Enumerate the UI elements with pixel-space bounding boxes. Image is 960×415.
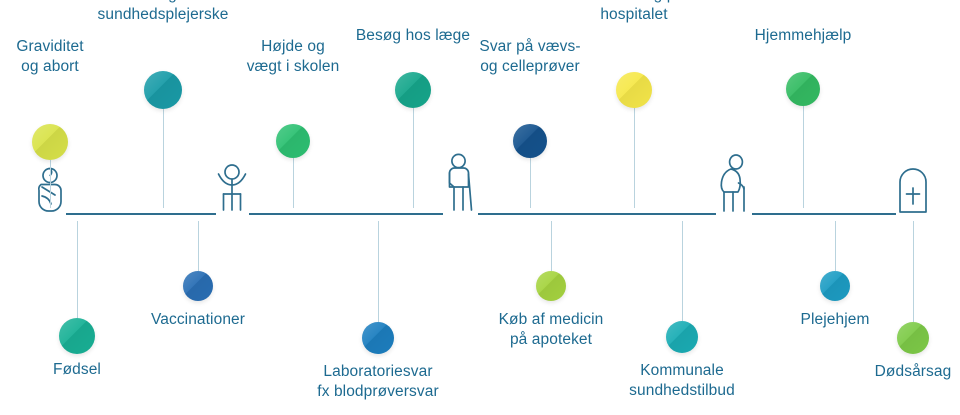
marker-label-doedsaarsag: Dødsårsag: [875, 362, 952, 382]
marker-stem-koeb-af-medicin-paa-apoteket: [551, 221, 552, 271]
marker-stem-plejehjem: [835, 221, 836, 271]
marker-dot-laboratoriesvar[interactable]: [362, 322, 394, 354]
marker-stem-doedsaarsag: [913, 221, 914, 322]
marker-dot-graviditet-og-abort[interactable]: [32, 124, 68, 160]
marker-stem-hoejde-og-vaegt-i-skolen: [293, 158, 294, 208]
marker-dot-doedsaarsag[interactable]: [897, 322, 929, 354]
marker-dot-foedsel[interactable]: [59, 318, 95, 354]
marker-stem-besoeg-af-sundhedsplejerske: [163, 109, 164, 208]
marker-dot-behandling-paa-hospitalet[interactable]: [616, 72, 652, 108]
marker-label-besoeg-hos-laege: Besøg hos læge: [356, 26, 470, 46]
segment-elderly-to-death: [752, 213, 896, 215]
marker-dot-kommunale-sundhedstilbud[interactable]: [666, 321, 698, 353]
segment-adult-to-elderly: [478, 213, 716, 215]
marker-label-hjemmehjaelp: Hjemmehjælp: [755, 26, 852, 46]
marker-label-foedsel: Fødsel: [53, 360, 101, 380]
marker-dot-hjemmehjaelp[interactable]: [786, 72, 820, 106]
marker-dot-hoejde-og-vaegt-i-skolen[interactable]: [276, 124, 310, 158]
segment-birth-to-child: [66, 213, 216, 215]
marker-label-vaccinationer: Vaccinationer: [151, 310, 245, 330]
marker-stem-foedsel: [77, 221, 78, 318]
child-icon: [209, 163, 255, 215]
marker-label-graviditet-og-abort: Graviditet og abort: [16, 37, 83, 78]
marker-stem-graviditet-og-abort: [50, 160, 51, 208]
marker-label-laboratoriesvar: Laboratoriesvar fx blodprøversvar: [317, 362, 438, 403]
marker-label-plejehjem: Plejehjem: [801, 310, 870, 330]
healthcare-lifecycle-timeline: Graviditet og abortBesøg af sundhedsplej…: [0, 0, 960, 415]
marker-label-besoeg-af-sundhedsplejerske: Besøg af sundhedsplejerske: [98, 0, 229, 26]
marker-label-svar-paa-vaevs-og-celleproever: Svar på vævs- og celleprøver: [479, 37, 580, 78]
marker-stem-kommunale-sundhedstilbud: [682, 221, 683, 321]
marker-stem-laboratoriesvar: [378, 221, 379, 322]
marker-label-koeb-af-medicin-paa-apoteket: Køb af medicin på apoteket: [499, 310, 604, 351]
elderly-icon: [714, 153, 752, 215]
adult-icon: [443, 153, 477, 215]
marker-dot-koeb-af-medicin-paa-apoteket[interactable]: [536, 271, 566, 301]
gravestone-icon: [895, 163, 931, 215]
marker-stem-hjemmehjaelp: [803, 106, 804, 208]
marker-dot-svar-paa-vaevs-og-celleproever[interactable]: [513, 124, 547, 158]
marker-stem-svar-paa-vaevs-og-celleproever: [530, 158, 531, 208]
marker-label-kommunale-sundhedstilbud: Kommunale sundhedstilbud: [629, 361, 735, 402]
marker-dot-vaccinationer[interactable]: [183, 271, 213, 301]
marker-stem-behandling-paa-hospitalet: [634, 108, 635, 208]
marker-label-behandling-paa-hospitalet: Behandling på hospitalet: [584, 0, 684, 26]
marker-stem-besoeg-hos-laege: [413, 108, 414, 208]
marker-dot-besoeg-af-sundhedsplejerske[interactable]: [144, 71, 182, 109]
segment-child-to-adult: [249, 213, 443, 215]
marker-label-hoejde-og-vaegt-i-skolen: Højde og vægt i skolen: [247, 37, 340, 78]
marker-dot-besoeg-hos-laege[interactable]: [395, 72, 431, 108]
marker-stem-vaccinationer: [198, 221, 199, 271]
marker-dot-plejehjem[interactable]: [820, 271, 850, 301]
